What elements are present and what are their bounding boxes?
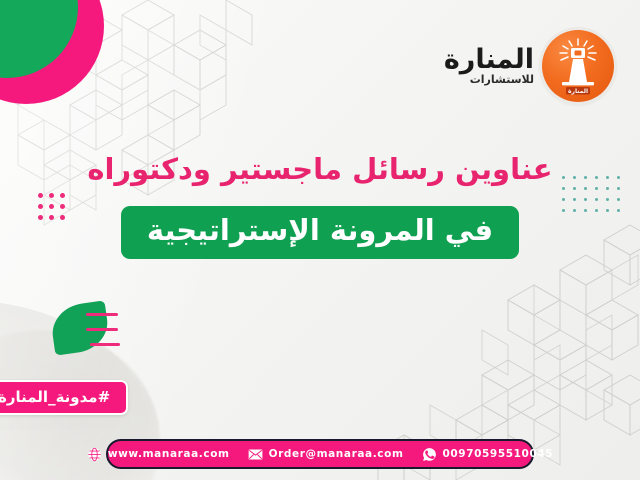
phone-label: 00970595510045 [443, 448, 554, 460]
envelope-icon [248, 447, 263, 462]
leaf-line [86, 313, 118, 316]
poster-canvas: المنارة للاستشارات [0, 0, 640, 480]
contact-website[interactable]: www.manaraa.com [87, 447, 230, 462]
page-title: عناوين رسائل ماجستير ودكتوراه [0, 152, 640, 186]
lighthouse-icon: المنارة [542, 30, 614, 102]
leaf-line [90, 343, 120, 346]
brand-name: المنارة [444, 46, 534, 73]
brand-logo-text: المنارة للاستشارات [444, 46, 534, 87]
subtitle-banner: في المرونة الإستراتيجية [121, 206, 519, 259]
brand-logo: المنارة للاستشارات [444, 30, 614, 102]
svg-text:المنارة: المنارة [568, 88, 588, 95]
website-label: www.manaraa.com [108, 448, 230, 460]
hashtag-badge: #مدونة_المنارة [0, 380, 128, 415]
banner-container: في المرونة الإستراتيجية [0, 206, 640, 259]
green-leaf-accent-icon [52, 300, 152, 362]
contact-email[interactable]: Order@manaraa.com [248, 447, 404, 462]
whatsapp-icon [422, 447, 437, 462]
leaf-line [86, 328, 118, 331]
contact-phone[interactable]: 00970595510045 [422, 447, 554, 462]
email-label: Order@manaraa.com [269, 448, 404, 460]
globe-icon [87, 447, 102, 462]
contact-bar: www.manaraa.com Order@manaraa.com 009705… [106, 439, 534, 469]
brand-subtitle: للاستشارات [444, 74, 534, 85]
